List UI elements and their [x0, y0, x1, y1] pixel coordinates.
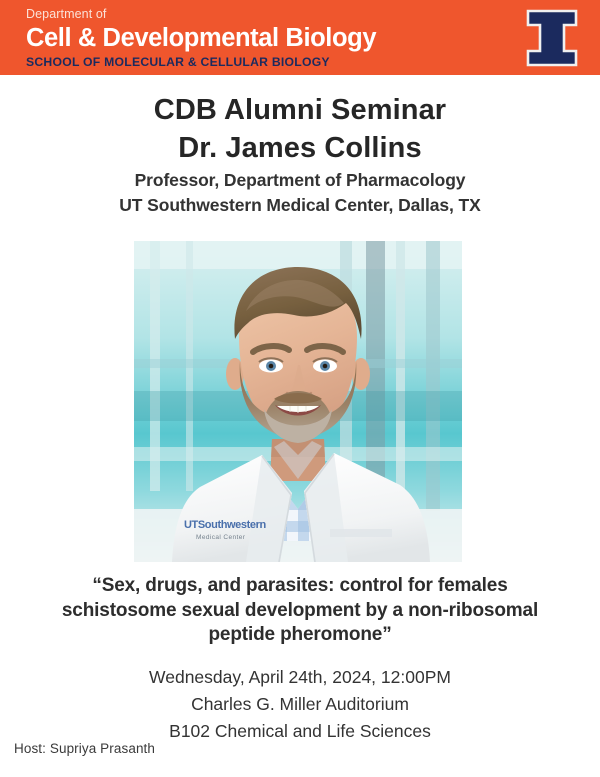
title-block: CDB Alumni Seminar Dr. James Collins Pro…	[0, 92, 600, 218]
event-datetime: Wednesday, April 24th, 2024, 12:00PM	[0, 664, 600, 691]
speaker-affiliation-line-2: UT Southwestern Medical Center, Dallas, …	[0, 193, 600, 218]
department-eyebrow: Department of	[26, 7, 376, 22]
svg-text:Medical Center: Medical Center	[196, 534, 246, 541]
header-text-block: Department of Cell & Developmental Biolo…	[26, 7, 376, 70]
speaker-portrait-illustration: UTSouthwestern Medical Center	[134, 241, 462, 562]
illinois-block-i-icon	[524, 9, 580, 67]
speaker-portrait-photo: UTSouthwestern Medical Center	[134, 241, 462, 562]
event-venue: Charles G. Miller Auditorium	[0, 691, 600, 718]
event-title: CDB Alumni Seminar	[0, 92, 600, 128]
talk-title: “Sex, drugs, and parasites: control for …	[36, 574, 564, 648]
speaker-affiliation-line-1: Professor, Department of Pharmacology	[0, 168, 600, 193]
header-bar: Department of Cell & Developmental Biolo…	[0, 0, 600, 75]
event-details: Wednesday, April 24th, 2024, 12:00PM Cha…	[0, 664, 600, 745]
speaker-name: Dr. James Collins	[0, 128, 600, 168]
svg-text:UTSouthwestern: UTSouthwestern	[184, 519, 266, 531]
school-name: SCHOOL OF MOLECULAR & CELLULAR BIOLOGY	[26, 55, 376, 70]
host-label: Host: Supriya Prasanth	[14, 741, 155, 756]
department-name: Cell & Developmental Biology	[26, 23, 376, 53]
